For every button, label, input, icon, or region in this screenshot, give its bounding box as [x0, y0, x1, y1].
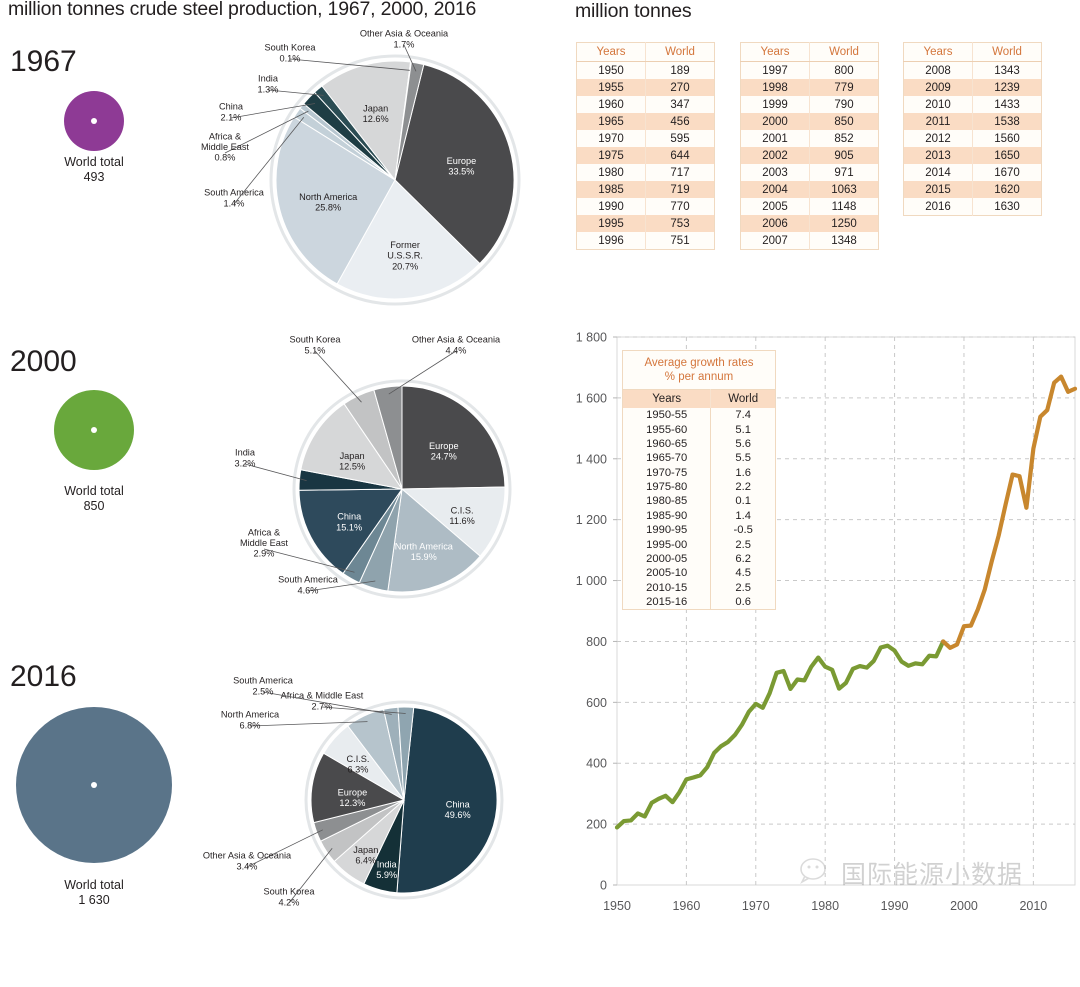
table-row: 1998779	[741, 79, 879, 96]
table-cell-year: 2010	[904, 96, 973, 113]
production-table-2: YearsWorld199780019987791999790200085020…	[740, 42, 879, 250]
growth-cell-years: 1960-65	[623, 437, 711, 451]
pie-label-europe: Europe24.7%	[429, 441, 459, 462]
table-cell-world: 1630	[973, 198, 1042, 216]
y-axis-tick-label: 400	[586, 757, 607, 771]
growth-cell-years: 1970-75	[623, 466, 711, 480]
y-axis-tick-label: 200	[586, 818, 607, 832]
table-row: 20101433	[904, 96, 1042, 113]
pie-label-south-korea: South Korea5.1%	[289, 335, 341, 356]
growth-row: 1955-605.1	[623, 422, 775, 436]
wechat-icon	[800, 858, 834, 888]
table-cell-year: 1996	[577, 232, 646, 250]
pie-label-africa-middle-east: Africa &Middle East2.9%	[240, 527, 288, 558]
table-row: 20041063	[741, 181, 879, 198]
table-cell-world: 595	[646, 130, 715, 147]
growth-cell-years: 1955-60	[623, 422, 711, 436]
pie-slice-europe[interactable]	[402, 386, 505, 489]
table-row: 1985719	[577, 181, 715, 198]
table-cell-year: 2008	[904, 62, 973, 80]
x-axis-tick-label: 1970	[742, 899, 770, 913]
y-axis-tick-label: 0	[600, 879, 607, 893]
growth-row: 1960-655.6	[623, 437, 775, 451]
table-row: 20111538	[904, 113, 1042, 130]
x-axis-tick-label: 1980	[811, 899, 839, 913]
table-row: 1990770	[577, 198, 715, 215]
right-panel-title: million tonnes	[575, 0, 691, 23]
table-cell-year: 1990	[577, 198, 646, 215]
table-cell-year: 1960	[577, 96, 646, 113]
pie-label-europe: Europe33.5%	[447, 156, 477, 177]
y-axis-tick-label: 800	[586, 635, 607, 649]
table-row: 1950189	[577, 62, 715, 80]
table-cell-world: 1239	[973, 79, 1042, 96]
production-table-1: YearsWorld195018919552701960347196545619…	[576, 42, 715, 250]
table-cell-year: 1998	[741, 79, 810, 96]
growth-cell-world: 1.6	[711, 466, 775, 480]
pie-label-c-i-s: C.I.S.11.6%	[449, 505, 474, 526]
x-axis-tick-label: 1960	[672, 899, 700, 913]
table-cell-world: 779	[810, 79, 879, 96]
growth-cell-world: 5.6	[711, 437, 775, 451]
growth-header-world: World	[711, 390, 775, 409]
pie-label-north-america: North America6.8%	[221, 710, 280, 731]
y-axis-tick-label: 1 200	[576, 513, 607, 527]
table-cell-world: 800	[810, 62, 879, 80]
table-row: 20121560	[904, 130, 1042, 147]
table-cell-world: 1560	[973, 130, 1042, 147]
table-cell-world: 852	[810, 130, 879, 147]
table-cell-world: 270	[646, 79, 715, 96]
table-cell-world: 719	[646, 181, 715, 198]
table-row: 1995753	[577, 215, 715, 232]
table-cell-year: 2014	[904, 164, 973, 181]
table-row: 1965456	[577, 113, 715, 130]
pie-label-japan: Japan12.6%	[363, 104, 389, 125]
table-cell-year: 2015	[904, 181, 973, 198]
table-cell-year: 1997	[741, 62, 810, 80]
table-cell-world: 717	[646, 164, 715, 181]
watermark: 国际能源小数据	[800, 855, 1023, 891]
growth-row: 1980-850.1	[623, 494, 775, 508]
table-row: 2001852	[741, 130, 879, 147]
table-cell-world: 1670	[973, 164, 1042, 181]
growth-row: 2005-104.5	[623, 566, 775, 580]
pie-label-china: China49.6%	[445, 800, 471, 821]
table-row: 20061250	[741, 215, 879, 232]
growth-row: 2010-152.5	[623, 581, 775, 595]
table-cell-world: 1348	[810, 232, 879, 250]
table-cell-year: 2011	[904, 113, 973, 130]
growth-table-title: Average growth rates % per annum	[623, 351, 775, 389]
growth-row: 1985-901.4	[623, 509, 775, 523]
leader-line	[315, 351, 362, 402]
table-cell-year: 2012	[904, 130, 973, 147]
table-cell-world: 1538	[973, 113, 1042, 130]
x-axis-tick-label: 2000	[950, 899, 978, 913]
growth-row: 1950-557.4	[623, 408, 775, 422]
table-row: 1996751	[577, 232, 715, 250]
growth-cell-world: 7.4	[711, 408, 775, 422]
table-cell-year: 1950	[577, 62, 646, 80]
table-cell-world: 753	[646, 215, 715, 232]
table-row: 1997800	[741, 62, 879, 80]
table-header-years: Years	[577, 43, 646, 62]
pie-label-japan: Japan6.4%	[353, 845, 378, 866]
table-row: 20051148	[741, 198, 879, 215]
growth-cell-world: 0.1	[711, 494, 775, 508]
growth-cell-years: 1985-90	[623, 509, 711, 523]
pie-label-other-asia-oceania: Other Asia & Oceania1.7%	[360, 29, 449, 50]
table-cell-world: 1343	[973, 62, 1042, 80]
table-cell-world: 1250	[810, 215, 879, 232]
growth-cell-years: 2015-16	[623, 595, 711, 609]
table-cell-world: 1148	[810, 198, 879, 215]
pie-label-south-korea: South Korea0.1%	[264, 43, 316, 64]
growth-cell-world: 5.5	[711, 451, 775, 465]
growth-cell-years: 1995-00	[623, 537, 711, 551]
pie-label-japan: Japan12.5%	[339, 451, 365, 472]
table-header-world: World	[810, 43, 879, 62]
table-cell-world: 1620	[973, 181, 1042, 198]
table-cell-year: 2006	[741, 215, 810, 232]
table-cell-world: 1650	[973, 147, 1042, 164]
table-header-world: World	[973, 43, 1042, 62]
growth-cell-world: 2.2	[711, 480, 775, 494]
growth-cell-world: 2.5	[711, 537, 775, 551]
table-row: 1975644	[577, 147, 715, 164]
table-header-years: Years	[741, 43, 810, 62]
table-cell-world: 751	[646, 232, 715, 250]
growth-cell-world: 6.2	[711, 552, 775, 566]
growth-title-line2: % per annum	[665, 371, 733, 383]
table-header-years: Years	[904, 43, 973, 62]
pie-label-c-i-s: C.I.S.6.3%	[347, 754, 370, 775]
growth-cell-world: 4.5	[711, 566, 775, 580]
table-cell-year: 1980	[577, 164, 646, 181]
table-row: 2000850	[741, 113, 879, 130]
table-row: 2003971	[741, 164, 879, 181]
growth-cell-world: 0.6	[711, 595, 775, 609]
growth-cell-world: 5.1	[711, 422, 775, 436]
pie-label-india: India5.9%	[376, 859, 397, 880]
table-cell-year: 2003	[741, 164, 810, 181]
pie-label-europe: Europe12.3%	[338, 787, 368, 808]
table-row: 2002905	[741, 147, 879, 164]
growth-title-line1: Average growth rates	[644, 357, 753, 369]
x-axis-tick-label: 2010	[1019, 899, 1047, 913]
y-axis-tick-label: 1 400	[576, 452, 607, 466]
table-row: 20071348	[741, 232, 879, 250]
watermark-text: 国际能源小数据	[841, 855, 1023, 891]
infographic-root: million tonnes crude steel production, 1…	[0, 0, 1080, 929]
growth-cell-years: 1950-55	[623, 408, 711, 422]
table-cell-year: 1970	[577, 130, 646, 147]
table-cell-world: 971	[810, 164, 879, 181]
table-cell-world: 347	[646, 96, 715, 113]
pie-label-other-asia-oceania: Other Asia & Oceania4.4%	[412, 335, 501, 356]
table-cell-year: 2005	[741, 198, 810, 215]
table-cell-world: 790	[810, 96, 879, 113]
growth-cell-years: 2000-05	[623, 552, 711, 566]
table-cell-year: 1955	[577, 79, 646, 96]
pie-label-former-u-s-s-r: FormerU.S.S.R.20.7%	[387, 240, 423, 271]
leader-line	[247, 830, 323, 867]
growth-cell-years: 1975-80	[623, 480, 711, 494]
x-axis-tick-label: 1950	[603, 899, 631, 913]
table-row: 1960347	[577, 96, 715, 113]
table-cell-world: 644	[646, 147, 715, 164]
growth-row: 1975-802.2	[623, 480, 775, 494]
pie-label-africa-middle-east: Africa & Middle East2.7%	[281, 691, 364, 712]
table-row: 20091239	[904, 79, 1042, 96]
growth-cell-world: 2.5	[711, 581, 775, 595]
growth-cell-world: 1.4	[711, 509, 775, 523]
growth-cell-world: -0.5	[711, 523, 775, 537]
y-axis-tick-label: 1 600	[576, 391, 607, 405]
x-axis-tick-label: 1990	[881, 899, 909, 913]
table-cell-world: 770	[646, 198, 715, 215]
table-cell-world: 189	[646, 62, 715, 80]
pie-label-south-america: South America1.4%	[204, 188, 265, 209]
table-cell-year: 2002	[741, 147, 810, 164]
pie-label-other-asia-oceania: Other Asia & Oceania3.4%	[203, 851, 292, 872]
table-cell-world: 905	[810, 147, 879, 164]
growth-cell-years: 1980-85	[623, 494, 711, 508]
table-cell-year: 1985	[577, 181, 646, 198]
growth-cell-years: 2005-10	[623, 566, 711, 580]
table-cell-world: 1063	[810, 181, 879, 198]
table-cell-year: 1995	[577, 215, 646, 232]
y-axis-tick-label: 1 800	[576, 331, 607, 345]
table-cell-year: 2013	[904, 147, 973, 164]
growth-row: 2015-160.6	[623, 595, 775, 609]
growth-row: 2000-056.2	[623, 552, 775, 566]
table-row: 20131650	[904, 147, 1042, 164]
table-cell-year: 2007	[741, 232, 810, 250]
growth-rates-table: Average growth rates % per annum YearsWo…	[622, 350, 776, 610]
table-row: 20151620	[904, 181, 1042, 198]
pie-label-china: China15.1%	[336, 512, 362, 533]
table-cell-year: 1999	[741, 96, 810, 113]
growth-row: 1995-002.5	[623, 537, 775, 551]
y-axis-tick-label: 600	[586, 696, 607, 710]
pie-label-china: China2.1%	[219, 102, 244, 123]
table-cell-year: 2000	[741, 113, 810, 130]
pie-label-africa-middle-east: Africa &Middle East0.8%	[201, 131, 249, 162]
table-row: 1955270	[577, 79, 715, 96]
table-cell-year: 2001	[741, 130, 810, 147]
growth-header-years: Years	[623, 390, 711, 409]
growth-row: 1965-705.5	[623, 451, 775, 465]
table-row: 20081343	[904, 62, 1042, 80]
table-header-world: World	[646, 43, 715, 62]
production-table-3: YearsWorld200813432009123920101433201115…	[903, 42, 1042, 216]
growth-cell-years: 2010-15	[623, 581, 711, 595]
growth-cell-years: 1965-70	[623, 451, 711, 465]
table-row: 20141670	[904, 164, 1042, 181]
growth-row: 1970-751.6	[623, 466, 775, 480]
table-row: 1999790	[741, 96, 879, 113]
table-row: 1970595	[577, 130, 715, 147]
table-cell-year: 1965	[577, 113, 646, 130]
table-cell-world: 850	[810, 113, 879, 130]
pie-label-india: India3.2%	[235, 448, 256, 469]
table-cell-year: 2016	[904, 198, 973, 216]
table-cell-world: 1433	[973, 96, 1042, 113]
table-cell-world: 456	[646, 113, 715, 130]
pie-label-south-america: South America4.6%	[278, 575, 339, 596]
table-row: 1980717	[577, 164, 715, 181]
y-axis-tick-label: 1 000	[576, 574, 607, 588]
table-row: 20161630	[904, 198, 1042, 216]
table-cell-year: 2009	[904, 79, 973, 96]
pie-label-india: India1.3%	[258, 74, 279, 95]
pie-label-south-korea: South Korea4.2%	[263, 887, 315, 908]
growth-cell-years: 1990-95	[623, 523, 711, 537]
table-cell-year: 1975	[577, 147, 646, 164]
growth-row: 1990-95-0.5	[623, 523, 775, 537]
table-cell-year: 2004	[741, 181, 810, 198]
